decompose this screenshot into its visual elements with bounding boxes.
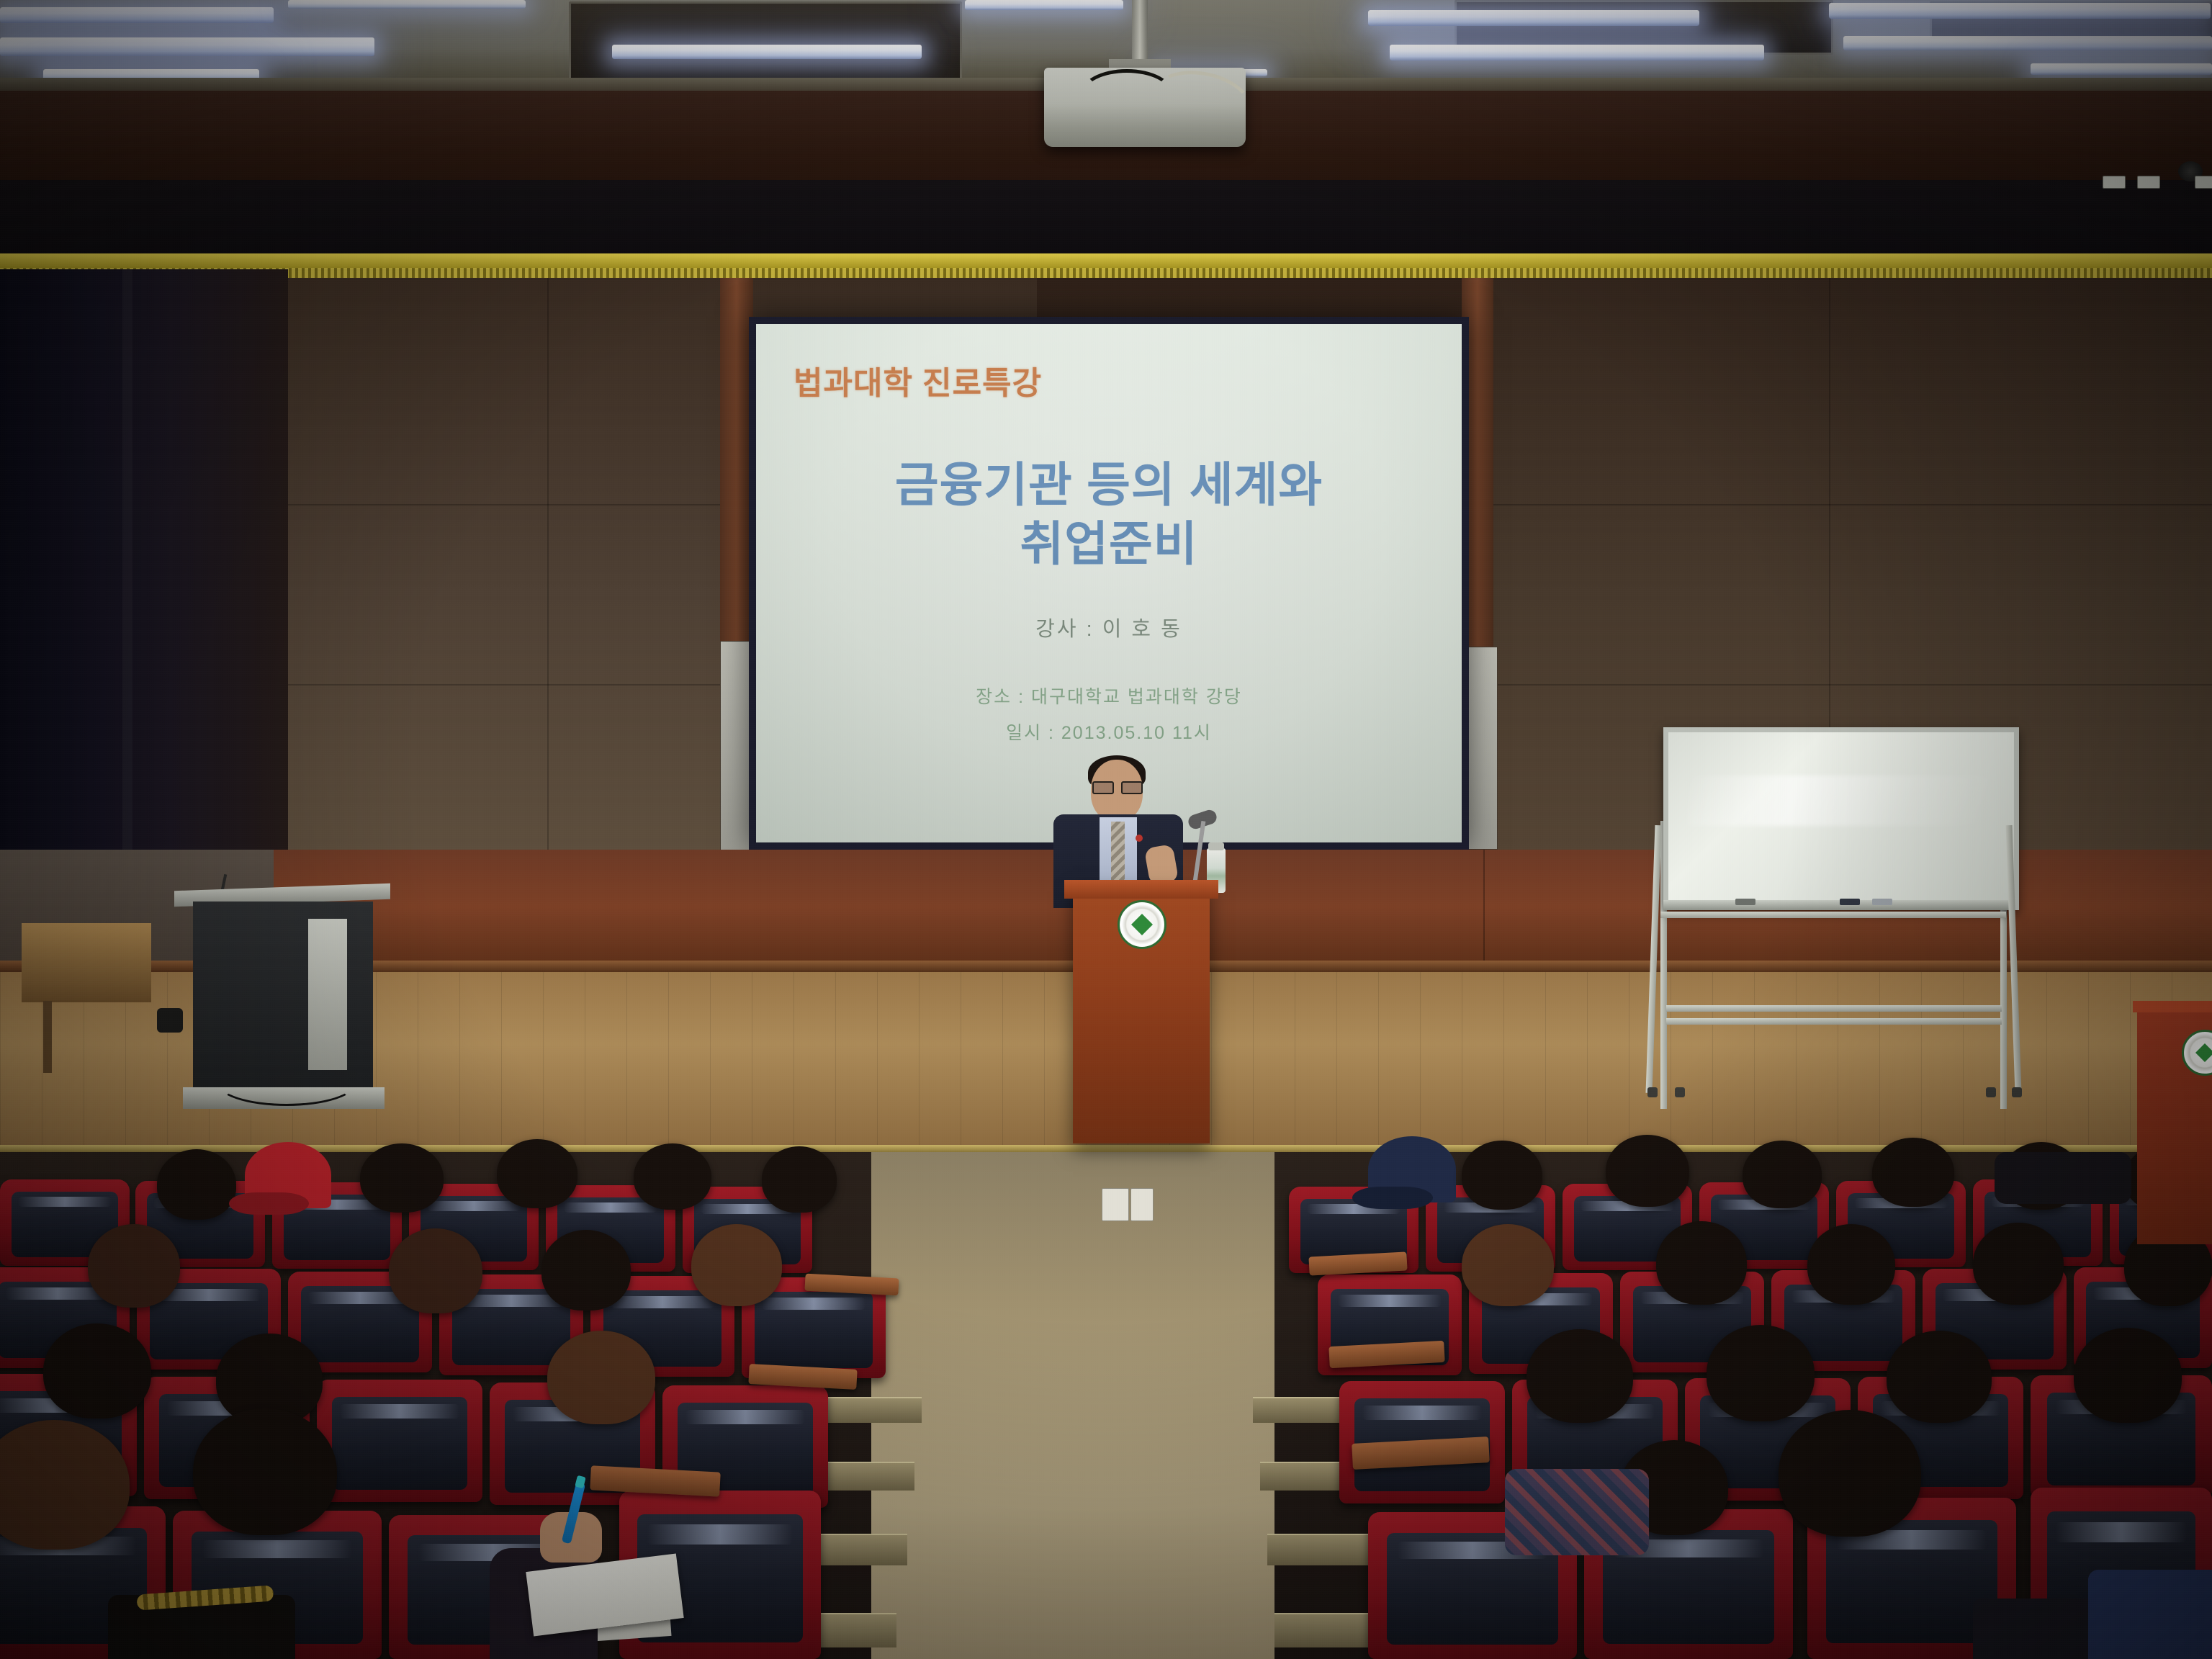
projector-ports bbox=[2103, 176, 2212, 192]
aisle-step bbox=[1253, 1397, 1346, 1423]
slide-datetime-line: 일시 : 2013.05.10 11시 bbox=[756, 719, 1462, 745]
apron-seam bbox=[1483, 850, 1485, 965]
blue-jacket bbox=[2088, 1570, 2212, 1659]
audience-head bbox=[88, 1224, 180, 1308]
crest-diamond-icon bbox=[1131, 914, 1153, 935]
slide-kicker: 법과대학 진로특강 bbox=[756, 357, 1462, 403]
eraser-icon[interactable] bbox=[1872, 899, 1892, 905]
aisle-step bbox=[828, 1397, 922, 1423]
audience-head bbox=[1462, 1141, 1542, 1210]
whiteboard-foot bbox=[1647, 1087, 1658, 1097]
curtain-fold bbox=[122, 269, 132, 903]
ceiling-light-tube bbox=[1843, 36, 2212, 50]
lectern-accent-stripe bbox=[308, 919, 347, 1070]
ceiling-vent-left bbox=[569, 1, 962, 81]
bag-on-seat bbox=[1995, 1152, 2131, 1204]
whiteboard[interactable] bbox=[1656, 727, 2016, 1102]
power-outlet bbox=[1102, 1188, 1129, 1221]
audience-head bbox=[691, 1224, 782, 1306]
floor-cable bbox=[216, 1058, 357, 1106]
whiteboard-foot bbox=[2012, 1087, 2022, 1097]
right-podium-top bbox=[2133, 1001, 2212, 1012]
marker-icon[interactable] bbox=[1840, 899, 1860, 905]
marker-icon[interactable] bbox=[1735, 899, 1755, 905]
whiteboard-surface[interactable] bbox=[1663, 727, 2019, 910]
slide-speaker-line: 강사 : 이 호 동 bbox=[756, 612, 1462, 642]
audience-head bbox=[2074, 1328, 2182, 1423]
lapel-pin-icon bbox=[1136, 835, 1143, 842]
wall-switch bbox=[1130, 1188, 1154, 1221]
side-table bbox=[22, 923, 151, 1002]
audience-head bbox=[1707, 1325, 1815, 1421]
audience-head bbox=[1887, 1331, 1992, 1423]
water-bottle-cap bbox=[1208, 842, 1224, 850]
stage-valance bbox=[0, 253, 2212, 269]
slide-title-line-2: 취업준비 bbox=[756, 505, 1462, 575]
red-cap-icon bbox=[245, 1142, 331, 1208]
ceiling-light-tube bbox=[1829, 3, 2211, 19]
ceiling-light-tube bbox=[965, 0, 1123, 10]
whiteboard-rail bbox=[1666, 1005, 2002, 1012]
audience-head bbox=[360, 1143, 444, 1213]
ceiling-light-tube bbox=[0, 37, 374, 56]
slide-venue-line: 장소 : 대구대학교 법과대학 강당 bbox=[756, 683, 1462, 709]
floor-monitor-speaker bbox=[157, 1008, 183, 1033]
audience-head bbox=[193, 1408, 337, 1535]
ceiling-light-tube bbox=[0, 7, 274, 23]
audience-head bbox=[1872, 1138, 1954, 1207]
wall-panel-seam bbox=[547, 278, 549, 854]
audience-head bbox=[1656, 1221, 1747, 1305]
audience-head bbox=[389, 1228, 482, 1313]
whiteboard-foot bbox=[1675, 1087, 1685, 1097]
side-table-leg bbox=[43, 1001, 52, 1073]
speaker-necktie bbox=[1111, 822, 1125, 884]
audience-head bbox=[1779, 1410, 1921, 1537]
whiteboard-foot bbox=[1986, 1087, 1996, 1097]
wall-panel-seam bbox=[1483, 684, 2212, 685]
whiteboard-rail bbox=[1666, 1018, 2002, 1025]
ceiling-light-tube bbox=[612, 45, 922, 59]
center-aisle bbox=[871, 1152, 1274, 1659]
audience-head bbox=[1606, 1135, 1689, 1207]
ceiling-light-tube bbox=[288, 0, 526, 9]
podium-top bbox=[1064, 880, 1218, 899]
audience-head bbox=[1973, 1223, 2064, 1305]
crest-diamond-icon bbox=[2195, 1043, 2212, 1062]
university-crest-icon bbox=[1118, 900, 1166, 949]
audience-head bbox=[1462, 1224, 1554, 1306]
navy-cap-icon bbox=[1368, 1136, 1456, 1202]
ceiling-light-tube bbox=[2031, 63, 2212, 75]
audience-head bbox=[634, 1143, 711, 1210]
whiteboard-marker-tray bbox=[1663, 900, 2009, 910]
whiteboard-glare bbox=[1687, 775, 1990, 826]
audience-head bbox=[541, 1230, 631, 1310]
seat[interactable] bbox=[317, 1380, 482, 1502]
audience-head bbox=[762, 1146, 837, 1213]
ceiling-light-tube bbox=[1390, 45, 1764, 60]
ceiling-light-tube bbox=[1368, 10, 1699, 26]
audience-head bbox=[43, 1323, 151, 1419]
audience-head bbox=[1743, 1141, 1822, 1208]
audience-head bbox=[547, 1331, 655, 1424]
auditorium-photo: 법과대학 진로특강 금융기관 등의 세계와 취업준비 강사 : 이 호 동 장소… bbox=[0, 0, 2212, 1659]
whiteboard-rail bbox=[1660, 912, 2006, 918]
audience-head bbox=[1527, 1329, 1633, 1423]
wall-panel-seam bbox=[1483, 504, 2212, 505]
audience-head bbox=[497, 1139, 577, 1208]
glasses-icon bbox=[1092, 781, 1141, 791]
plaid-shirt-student bbox=[1505, 1469, 1649, 1555]
stage-curtain-left bbox=[0, 269, 288, 903]
audience-head bbox=[1807, 1224, 1895, 1305]
audience-head bbox=[157, 1149, 236, 1220]
